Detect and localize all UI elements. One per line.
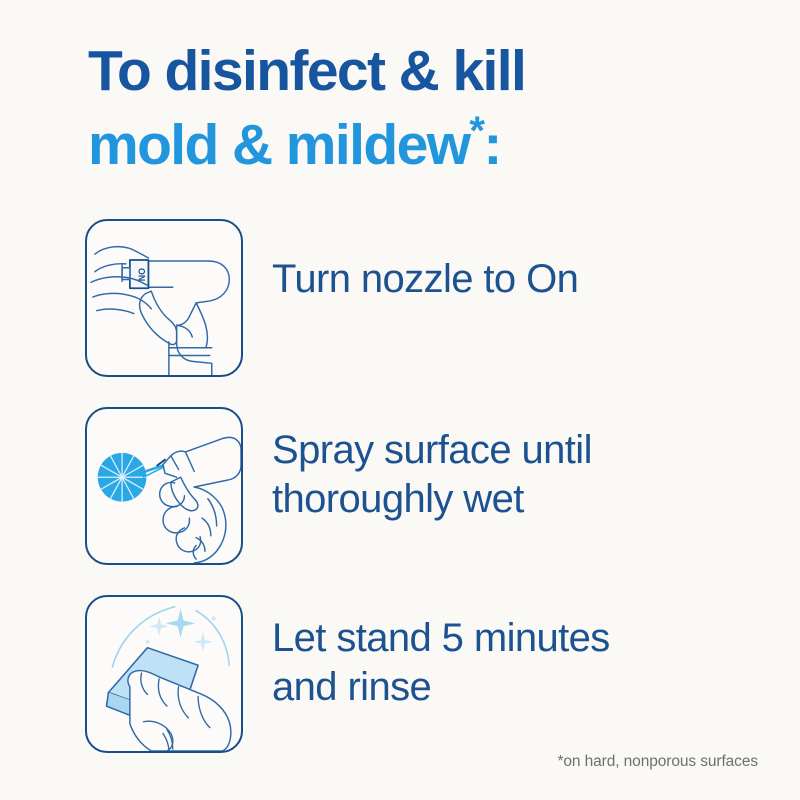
step-item: ON Turn nozzle to On bbox=[85, 219, 745, 377]
step-text-line: thoroughly wet bbox=[272, 475, 592, 524]
step-item: Let stand 5 minutes and rinse bbox=[85, 595, 745, 753]
sparkle-group bbox=[145, 609, 215, 652]
step-text-line: Let stand 5 minutes bbox=[272, 614, 610, 663]
instruction-card: To disinfect & kill mold & mildew*: bbox=[0, 0, 800, 800]
step-item: Spray surface until thoroughly wet bbox=[85, 407, 745, 565]
nozzle-on-label: ON bbox=[137, 268, 147, 281]
turn-nozzle-to-on-icon: ON bbox=[85, 219, 243, 377]
steps-list: ON Turn nozzle to On bbox=[0, 0, 800, 800]
wipe-and-rinse-icon bbox=[85, 595, 243, 753]
spray-surface-icon bbox=[85, 407, 243, 565]
step-text: Spray surface until thoroughly wet bbox=[272, 407, 592, 524]
step-text: Turn nozzle to On bbox=[272, 219, 578, 304]
footnote: *on hard, nonporous surfaces bbox=[557, 753, 758, 771]
step-text: Let stand 5 minutes and rinse bbox=[272, 595, 610, 712]
step-text-line: Spray surface until bbox=[272, 426, 592, 475]
spray-burst bbox=[98, 453, 163, 502]
step-text-line: Turn nozzle to On bbox=[272, 255, 578, 304]
step-text-line: and rinse bbox=[272, 663, 610, 712]
